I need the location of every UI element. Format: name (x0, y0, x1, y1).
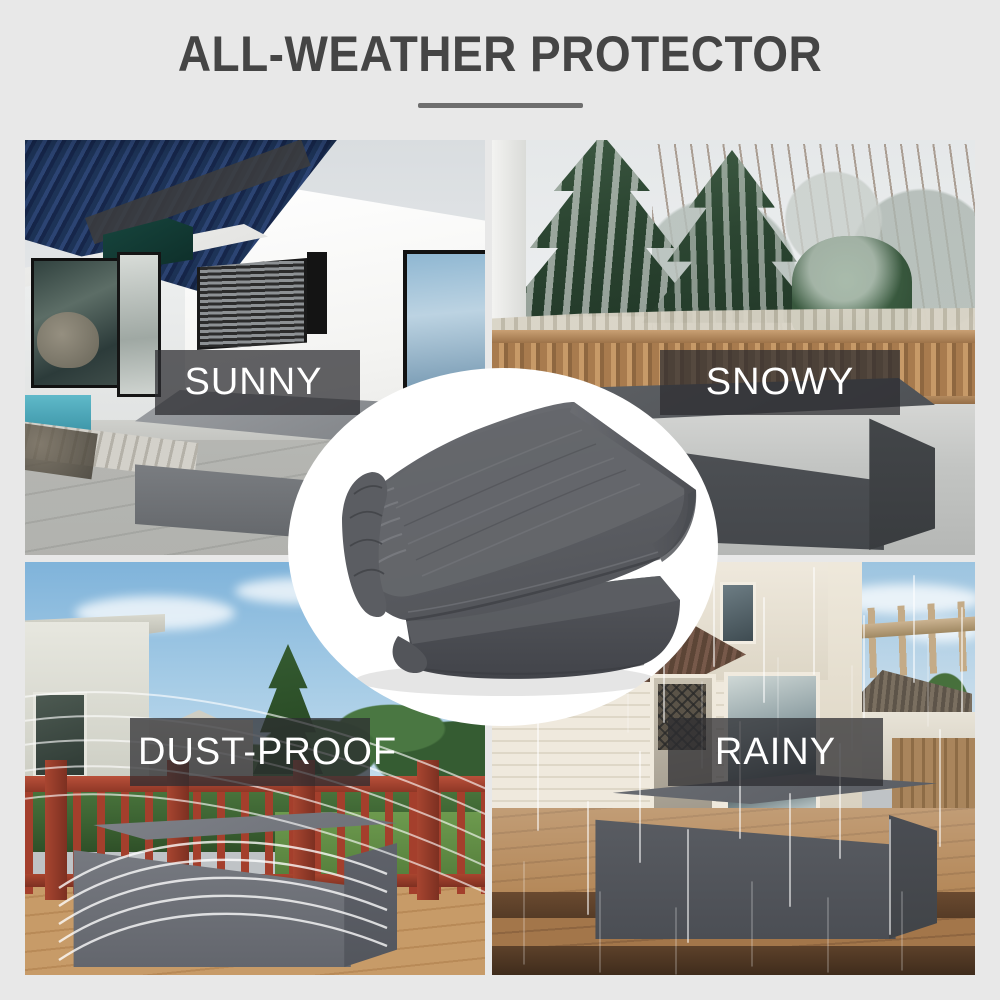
deck-railing-top-rail (492, 330, 975, 343)
label-text-rainy: RAINY (715, 731, 836, 774)
title-divider (418, 103, 583, 108)
cover-side-face (344, 843, 397, 967)
label-band-rainy: RAINY (668, 718, 883, 786)
shrub (37, 312, 99, 368)
window-shadow (307, 252, 327, 334)
covered-furniture (592, 774, 937, 939)
cover-side-face (869, 416, 935, 550)
product-highlight-circle (288, 368, 718, 726)
folded-cover-product-image (288, 368, 718, 726)
cover-top-face (67, 812, 397, 855)
header: ALL-WEATHER PROTECTOR (0, 0, 1000, 138)
cover-side-face (889, 807, 937, 939)
label-band-dust-proof: DUST-PROOF (130, 718, 370, 786)
label-text-snowy: SNOWY (706, 361, 855, 404)
railing-post (45, 760, 67, 900)
cover-front-face (592, 800, 937, 939)
page-title: ALL-WEATHER PROTECTOR (40, 28, 960, 81)
railing-post (417, 760, 439, 900)
deck-lower-step (492, 946, 975, 975)
upper-window (720, 582, 756, 644)
covered-furniture (67, 812, 397, 967)
label-text-dust-proof: DUST-PROOF (138, 731, 397, 774)
window-with-blinds (197, 258, 307, 350)
